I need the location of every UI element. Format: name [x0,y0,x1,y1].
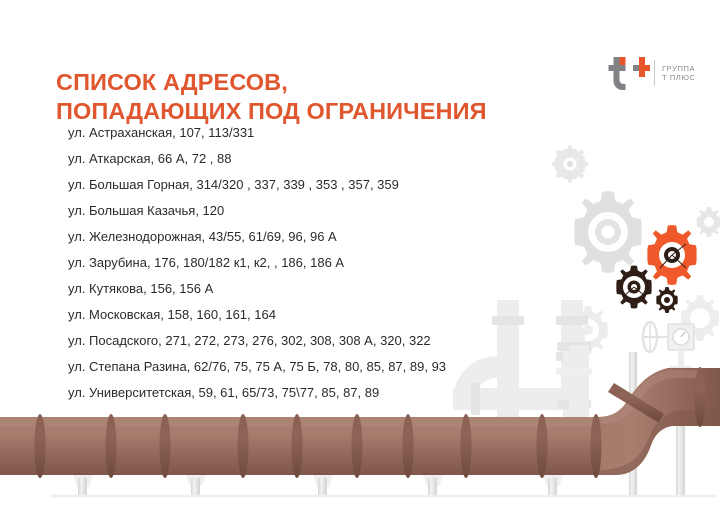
list-item: ул. Астраханская, 107, 113/331 [68,120,446,146]
pipe-flange-right-arm [695,367,706,427]
logo-text-line-1: ГРУППА [662,64,696,73]
logo-text-line-2: Т ПЛЮС [662,73,696,82]
list-item: ул. Аткарская, 66 А, 72 , 88 [68,146,446,172]
page-title-line-1: СПИСОК АДРЕСОВ, [56,68,487,98]
gear-icon-dark [616,266,651,309]
gauge-valve-assembly [643,322,694,372]
list-item: ул. Кутякова, 156, 156 А [68,276,446,302]
logo-divider [654,60,655,86]
main-pipe-horizontal [0,417,616,475]
list-item: ул. Степана Разина, 62/76, 75, 75 А, 75 … [68,354,446,380]
list-item: ул. Большая Горная, 314/320 , 337, 339 ,… [68,172,446,198]
gear-icon-gray-large [574,191,641,273]
list-item: ул. Зарубина, 176, 180/182 к1, к2, , 186… [68,250,446,276]
background-pipe-tall [569,345,589,450]
list-item: ул. Железнодорожная, 43/55, 61/69, 96, 9… [68,224,446,250]
gear-icon-gray-small-top [552,146,589,183]
t-plus-logo-mark [602,53,650,93]
slide-root: ГРУППА Т ПЛЮС СПИСОК АДРЕСОВ, ПОПАДАЮЩИХ… [0,0,720,528]
main-pipe-elbow [596,365,720,475]
logo-wordmark: ГРУППА Т ПЛЮС [662,64,696,83]
background-flanged-pipe [556,368,592,375]
address-list: ул. Астраханская, 107, 113/331 ул. Аткар… [68,120,446,406]
page-title: СПИСОК АДРЕСОВ, ПОПАДАЮЩИХ ПОД ОГРАНИЧЕН… [56,68,487,127]
gear-icon-dark-small [656,287,677,313]
pipe-flange-diagonal [608,383,664,423]
list-item: ул. Посадского, 271, 272, 273, 276, 302,… [68,328,446,354]
gear-icon-orange [647,225,696,285]
list-item: ул. Большая Казачья, 120 [68,198,446,224]
gear-icon-gray-bottom-2 [681,295,719,341]
list-item: ул. Московская, 158, 160, 161, 164 [68,302,446,328]
brand-logo[interactable]: ГРУППА Т ПЛЮС [602,50,714,96]
list-item: ул. Университетская, 59, 61, 65/73, 75\7… [68,380,446,406]
background-pipe-column [557,330,591,450]
gear-icon-gray-bottom [568,306,607,354]
pipe-flange-rings [35,414,602,478]
background-pipework [453,300,588,440]
gear-icon-gray-right-edge [697,207,720,237]
